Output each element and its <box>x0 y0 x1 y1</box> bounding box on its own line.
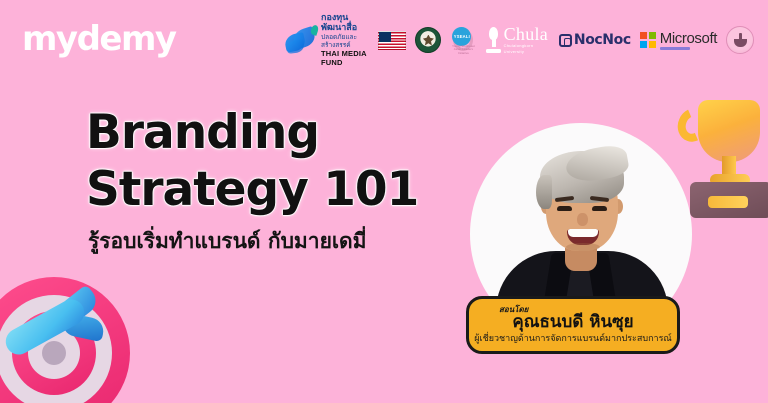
sponsor-logo-strip: กองทุนพัฒนาสื่อ ปลอดภัยและสร้างสรรค์ THA… <box>284 16 754 64</box>
sponsor-us-flag <box>378 18 406 62</box>
chula-emblem-icon <box>485 27 500 53</box>
bird-icon <box>284 23 318 57</box>
promo-banner: mydemy กองทุนพัฒนาสื่อ ปลอดภัยและสร้างสร… <box>0 0 768 403</box>
yseali-icon: YSEALI Young Southeast Asian Leaders Ini… <box>450 25 476 55</box>
sponsor-thai-media-fund: กองทุนพัฒนาสื่อ ปลอดภัยและสร้างสรรค์ THA… <box>284 18 369 62</box>
page-subtitle: รู้รอบเริ่มทำแบรนด์ กับมายเดมี่ <box>88 228 367 254</box>
sponsor-us-state-department <box>415 18 441 62</box>
nocnoc-label: NocNoc <box>574 33 631 47</box>
title-line-1: Branding <box>86 104 446 161</box>
microsoft-squares-icon <box>640 32 656 48</box>
sponsor-chulalongkorn: Chula Chulalongkorn University <box>485 18 550 62</box>
dart-target-icon <box>0 278 142 403</box>
yseali-caption: Young Southeast Asian Leaders Initiative <box>451 45 475 55</box>
mydemy-logo[interactable]: mydemy <box>22 22 176 56</box>
tmf-line2: ปลอดภัยและสร้างสรรค์ <box>321 33 369 49</box>
sponsor-nocnoc: NocNoc <box>559 18 631 62</box>
title-line-2: Strategy 101 <box>86 161 446 218</box>
us-flag-icon <box>378 31 406 50</box>
nocnoc-house-icon <box>559 34 572 47</box>
sponsor-yseali: YSEALI Young Southeast Asian Leaders Ini… <box>450 18 476 62</box>
speaker-role: ผู้เชี่ยวชาญด้านการจัดการแบรนด์มากประสบก… <box>474 333 672 345</box>
trophy-icon <box>672 86 768 218</box>
yseali-label: YSEALI <box>454 34 470 39</box>
sponsor-round-emblem <box>726 18 754 62</box>
speaker-name-card: สอนโดย คุณธนบดี หินซุย ผู้เชี่ยวชาญด้านก… <box>466 296 680 354</box>
sponsor-microsoft: Microsoft <box>640 18 717 62</box>
eagle-seal-icon <box>415 27 441 53</box>
chula-subtitle: Chulalongkorn University <box>504 43 550 55</box>
microsoft-label: Microsoft <box>660 31 717 46</box>
chula-name: Chula <box>504 25 550 43</box>
speaker-name: คุณธนบดี หินซุย <box>512 312 633 333</box>
round-emblem-icon <box>726 26 754 54</box>
tmf-line1: กองทุนพัฒนาสื่อ <box>321 13 369 33</box>
tmf-line3: THAI MEDIA FUND <box>321 49 369 67</box>
page-title: Branding Strategy 101 <box>86 104 446 218</box>
